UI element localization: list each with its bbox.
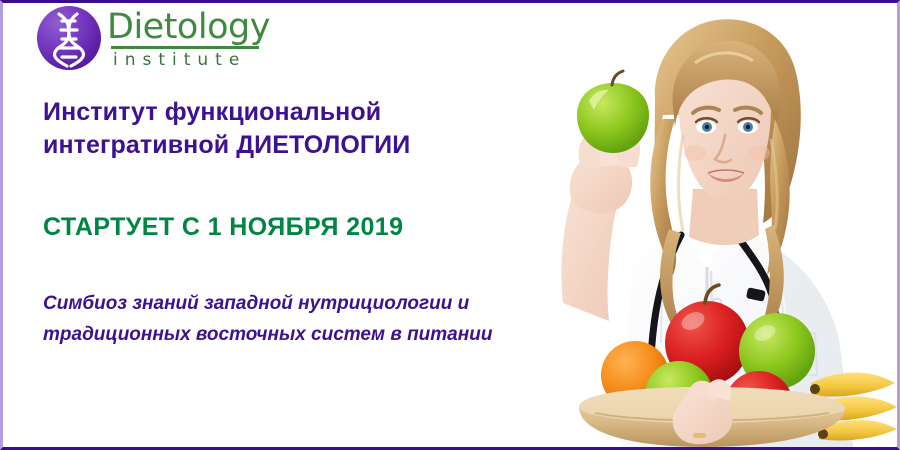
ring — [693, 433, 706, 438]
start-date-text: СТАРТУЕТ С 1 НОЯБРЯ 2019 — [43, 213, 403, 242]
logo-subtitle: institute — [113, 51, 270, 70]
tagline-line-2: традиционных восточных систем в питании — [43, 319, 543, 350]
promo-banner: Dietology institute Институт функциональ… — [0, 0, 900, 450]
dietology-institute-logo[interactable]: Dietology institute — [37, 6, 270, 70]
headline-line-1: Институт функциональной — [43, 96, 523, 129]
headline-line-2: интегративной ДИЕТОЛОГИИ — [43, 129, 523, 162]
logo-title: Dietology — [107, 9, 270, 45]
tagline-line-1: Симбиоз знаний западной нутрициологии и — [43, 288, 543, 319]
tagline: Симбиоз знаний западной нутрициологии и … — [43, 288, 543, 350]
text-column: Dietology institute Институт функциональ… — [3, 3, 563, 447]
dna-helix-circle-icon — [37, 6, 101, 70]
logo-wordmark: Dietology institute — [107, 7, 270, 70]
page-title: Институт функциональной интегративной ДИ… — [43, 96, 523, 162]
